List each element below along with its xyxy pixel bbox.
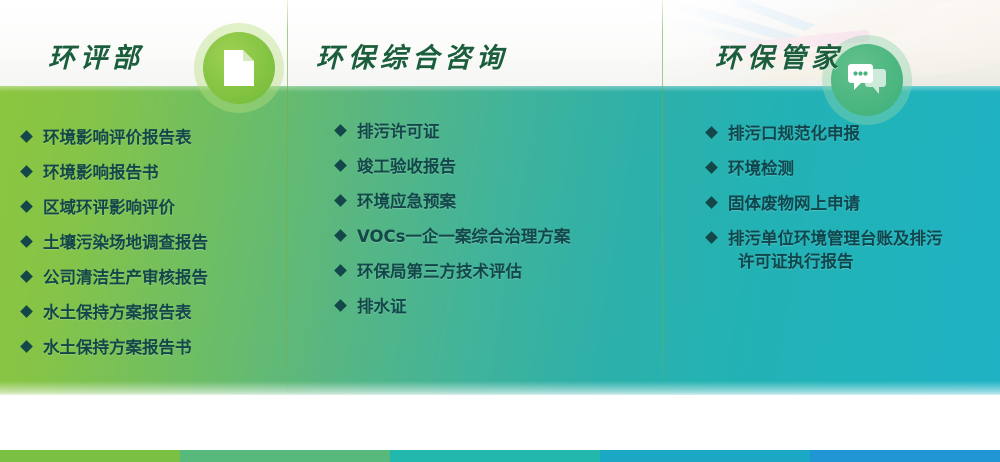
diamond-bullet-icon	[705, 196, 718, 209]
list-item[interactable]: 排水证	[336, 295, 654, 318]
list-item-label: 排污许可证	[357, 120, 654, 143]
feature-list-3: 排污口规范化申报 环境检测 固体废物网上申请 排污单位环境管理台账及排污 许可证…	[707, 122, 997, 285]
diamond-bullet-icon	[334, 194, 347, 207]
list-item-label-line2: 许可证执行报告	[728, 250, 997, 273]
list-item-label: 排污单位环境管理台账及排污	[728, 227, 997, 250]
list-item-label: 固体废物网上申请	[728, 192, 997, 215]
diamond-bullet-icon	[20, 340, 33, 353]
list-item[interactable]: 环境影响评价报告表	[22, 126, 284, 149]
diamond-bullet-icon	[705, 161, 718, 174]
feature-list-2: 排污许可证 竣工验收报告 环境应急预案 VOCs一企一案综合治理方案 环保局第三…	[336, 120, 654, 330]
list-item-label: 水土保持方案报告表	[43, 301, 284, 324]
section-title-1: 环评部	[48, 36, 144, 75]
list-item-label: 竣工验收报告	[357, 155, 654, 178]
diamond-bullet-icon	[334, 264, 347, 277]
list-item-label: 区域环评影响评价	[43, 196, 284, 219]
diamond-bullet-icon	[20, 130, 33, 143]
list-item[interactable]: 排污许可证	[336, 120, 654, 143]
list-item-label: 排水证	[357, 295, 654, 318]
section-column-3: 环保管家 排污口规范化申报 环境检测 固体废物网上申请	[663, 0, 1000, 396]
feature-list-1: 环境影响评价报告表 环境影响报告书 区域环评影响评价 土壤污染场地调查报告 公司…	[22, 126, 284, 371]
list-item-label: 环境应急预案	[357, 190, 654, 213]
list-item[interactable]: 排污口规范化申报	[707, 122, 997, 145]
document-icon	[224, 50, 254, 86]
list-item-label: 土壤污染场地调查报告	[43, 231, 284, 254]
section-title-2: 环保综合咨询	[316, 36, 508, 75]
list-item-label: 水土保持方案报告书	[43, 336, 284, 359]
list-item[interactable]: 环境影响报告书	[22, 161, 284, 184]
list-item[interactable]: 公司清洁生产审核报告	[22, 266, 284, 289]
diamond-bullet-icon	[705, 126, 718, 139]
list-item[interactable]: 区域环评影响评价	[22, 196, 284, 219]
list-item-label: 环境检测	[728, 157, 997, 180]
strip-segment-cyan	[600, 450, 810, 462]
list-item[interactable]: 水土保持方案报告表	[22, 301, 284, 324]
diamond-bullet-icon	[20, 165, 33, 178]
list-item-label: 环保局第三方技术评估	[357, 260, 654, 283]
list-item[interactable]: 固体废物网上申请	[707, 192, 997, 215]
diamond-bullet-icon	[20, 200, 33, 213]
list-item-label: 排污口规范化申报	[728, 122, 997, 145]
list-item[interactable]: 水土保持方案报告书	[22, 336, 284, 359]
document-icon-badge	[203, 32, 275, 104]
diamond-bullet-icon	[20, 270, 33, 283]
list-item[interactable]: 环境应急预案	[336, 190, 654, 213]
diamond-bullet-icon	[20, 235, 33, 248]
poster-canvas: 环评部 环境影响评价报告表 环境影响报告书 区域环评影响评价	[0, 0, 1000, 462]
diamond-bullet-icon	[20, 305, 33, 318]
chat-bubbles-icon	[848, 64, 886, 96]
diamond-bullet-icon	[334, 124, 347, 137]
diamond-bullet-icon	[334, 299, 347, 312]
strip-segment-leaf-green	[180, 450, 390, 462]
diamond-bullet-icon	[705, 231, 718, 244]
list-item-label: 环境影响评价报告表	[43, 126, 284, 149]
section-column-2: 环保综合咨询 排污许可证 竣工验收报告 环境应急	[288, 0, 662, 396]
strip-segment-teal	[390, 450, 600, 462]
list-item[interactable]: 竣工验收报告	[336, 155, 654, 178]
list-item-label: VOCs一企一案综合治理方案	[357, 225, 654, 248]
list-item[interactable]: VOCs一企一案综合治理方案	[336, 225, 654, 248]
strip-segment-green	[0, 450, 180, 462]
strip-segment-blue	[810, 450, 1000, 462]
list-item[interactable]: 环保局第三方技术评估	[336, 260, 654, 283]
list-item[interactable]: 土壤污染场地调查报告	[22, 231, 284, 254]
list-item[interactable]: 排污单位环境管理台账及排污 许可证执行报告	[707, 227, 997, 273]
diamond-bullet-icon	[334, 229, 347, 242]
list-item-label: 环境影响报告书	[43, 161, 284, 184]
section-title-3: 环保管家	[715, 36, 843, 75]
diamond-bullet-icon	[334, 159, 347, 172]
list-item-label: 公司清洁生产审核报告	[43, 266, 284, 289]
section-column-1: 环评部 环境影响评价报告表 环境影响报告书 区域环评影响评价	[0, 0, 287, 396]
bottom-color-strip	[0, 450, 1000, 462]
list-item[interactable]: 环境检测	[707, 157, 997, 180]
